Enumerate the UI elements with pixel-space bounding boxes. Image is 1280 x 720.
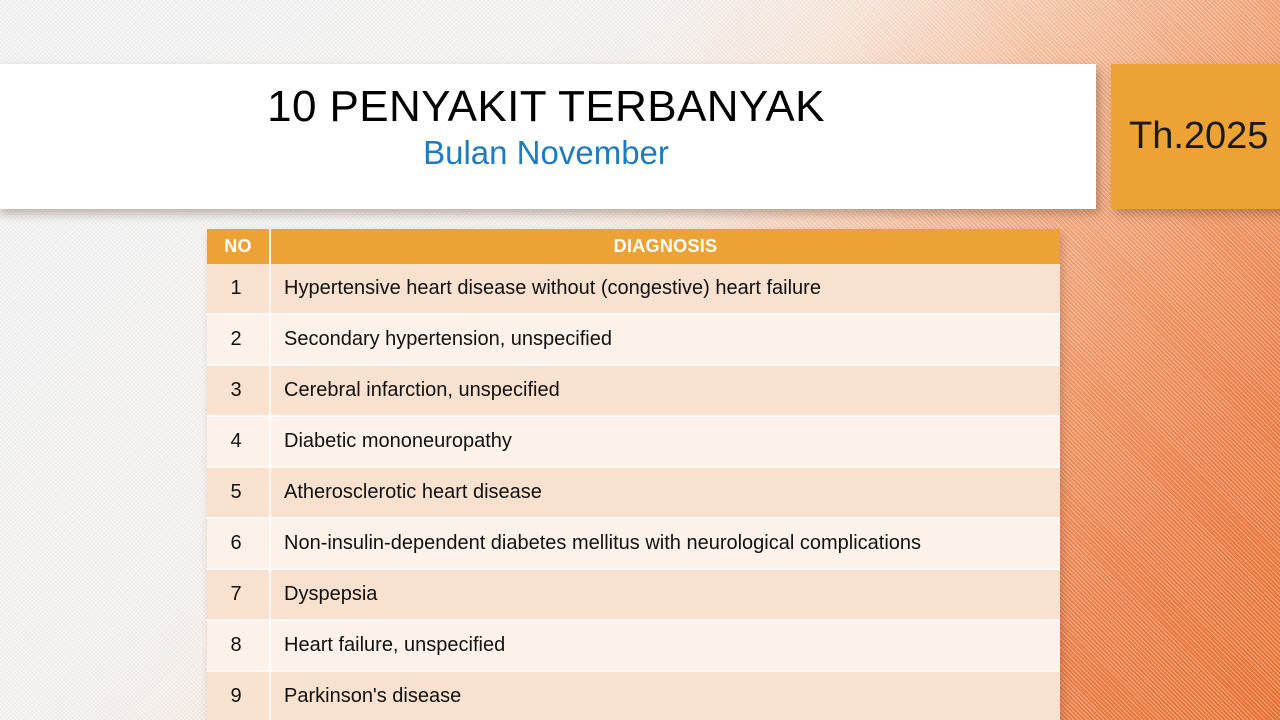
table-row: 7Dyspepsia <box>207 569 1060 620</box>
diagnosis-table: NO DIAGNOSIS 1Hypertensive heart disease… <box>207 229 1060 720</box>
column-header-no: NO <box>207 229 270 264</box>
cell-diagnosis: Dyspepsia <box>270 569 1060 620</box>
cell-no: 1 <box>207 264 270 314</box>
cell-diagnosis: Non-insulin-dependent diabetes mellitus … <box>270 518 1060 569</box>
table-body: 1Hypertensive heart disease without (con… <box>207 264 1060 720</box>
cell-diagnosis: Parkinson's disease <box>270 671 1060 720</box>
table-row: 6Non-insulin-dependent diabetes mellitus… <box>207 518 1060 569</box>
slide-canvas: 10 PENYAKIT TERBANYAK Bulan November Th.… <box>0 0 1280 720</box>
cell-diagnosis: Heart failure, unspecified <box>270 620 1060 671</box>
cell-no: 4 <box>207 416 270 467</box>
table-row: 4Diabetic mononeuropathy <box>207 416 1060 467</box>
title-block: 10 PENYAKIT TERBANYAK Bulan November <box>0 84 1096 173</box>
table-row: 3Cerebral infarction, unspecified <box>207 365 1060 416</box>
title-banner: 10 PENYAKIT TERBANYAK Bulan November <box>0 64 1096 209</box>
diagnosis-table-container: NO DIAGNOSIS 1Hypertensive heart disease… <box>207 229 1060 720</box>
table-row: 5Atherosclerotic heart disease <box>207 467 1060 518</box>
table-row: 2Secondary hypertension, unspecified <box>207 314 1060 365</box>
cell-diagnosis: Hypertensive heart disease without (cong… <box>270 264 1060 314</box>
cell-no: 8 <box>207 620 270 671</box>
cell-diagnosis: Atherosclerotic heart disease <box>270 467 1060 518</box>
table-header: NO DIAGNOSIS <box>207 229 1060 264</box>
column-header-diagnosis: DIAGNOSIS <box>270 229 1060 264</box>
page-title: 10 PENYAKIT TERBANYAK <box>0 84 1096 130</box>
cell-no: 5 <box>207 467 270 518</box>
table-row: 9Parkinson's disease <box>207 671 1060 720</box>
cell-no: 7 <box>207 569 270 620</box>
page-subtitle: Bulan November <box>0 132 1096 173</box>
cell-no: 3 <box>207 365 270 416</box>
table-header-row: NO DIAGNOSIS <box>207 229 1060 264</box>
cell-no: 9 <box>207 671 270 720</box>
year-badge: Th.2025 <box>1111 64 1280 209</box>
cell-diagnosis: Diabetic mononeuropathy <box>270 416 1060 467</box>
year-badge-label: Th.2025 <box>1111 115 1268 158</box>
table-row: 1Hypertensive heart disease without (con… <box>207 264 1060 314</box>
cell-no: 2 <box>207 314 270 365</box>
table-row: 8Heart failure, unspecified <box>207 620 1060 671</box>
cell-no: 6 <box>207 518 270 569</box>
cell-diagnosis: Secondary hypertension, unspecified <box>270 314 1060 365</box>
cell-diagnosis: Cerebral infarction, unspecified <box>270 365 1060 416</box>
